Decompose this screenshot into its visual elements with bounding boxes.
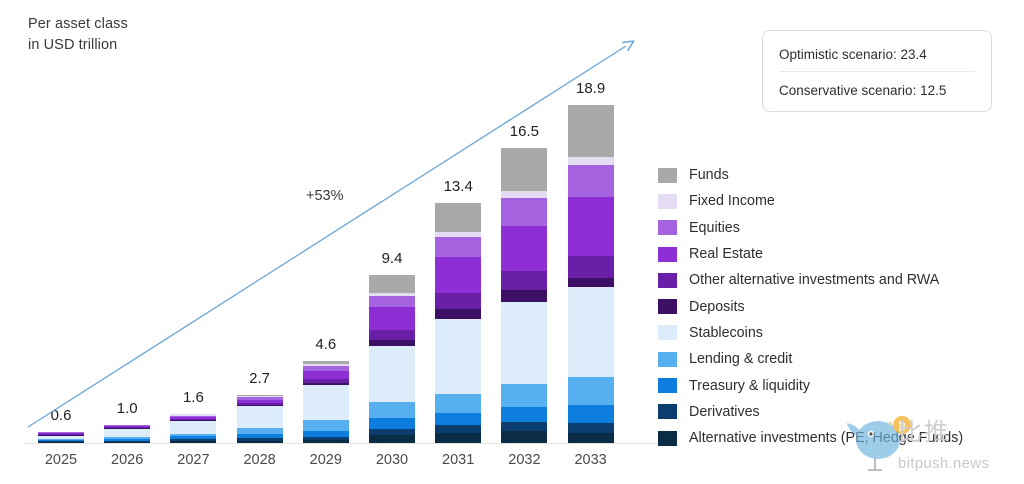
legend-swatch-icon [658, 247, 677, 262]
legend-label: Stablecoins [689, 325, 763, 341]
bar-segment-stablecoins[interactable] [237, 406, 283, 428]
bar-2028[interactable] [237, 395, 283, 443]
legend-label: Funds [689, 167, 729, 183]
legend-label: Deposits [689, 299, 745, 315]
bar-segment-stablecoins[interactable] [104, 429, 150, 437]
bar-segment-derivatives[interactable] [435, 425, 481, 433]
bar-segment-deposits[interactable] [568, 278, 614, 288]
bar-segment-treasury_liquidity[interactable] [435, 413, 481, 426]
bar-segment-treasury_liquidity[interactable] [369, 418, 415, 429]
bar-total-label-2025: 0.6 [51, 407, 72, 424]
bar-segment-lending_credit[interactable] [435, 394, 481, 413]
bar-segment-deposits[interactable] [435, 309, 481, 319]
legend-label: Derivatives [689, 404, 760, 420]
bar-total-label-2026: 1.0 [117, 400, 138, 417]
bar-segment-equities[interactable] [369, 296, 415, 307]
bar-total-label-2028: 2.7 [249, 370, 270, 387]
bar-segment-stablecoins[interactable] [501, 302, 547, 384]
growth-percentage-label: +53% [306, 188, 344, 204]
bar-segment-alternative_investments[interactable] [104, 442, 150, 443]
optimistic-scenario-row: Optimistic scenario: 23.4 [779, 43, 975, 71]
legend-item-5[interactable]: Deposits [658, 293, 1018, 319]
bar-segment-equities[interactable] [568, 165, 614, 197]
bar-segment-alternative_investments[interactable] [170, 441, 216, 443]
legend-swatch-icon [658, 273, 677, 288]
legend-label: Equities [689, 220, 740, 236]
scenario-callout-box: Optimistic scenario: 23.4 Conservative s… [762, 30, 992, 112]
bar-segment-lending_credit[interactable] [369, 402, 415, 418]
bar-total-label-2029: 4.6 [315, 336, 336, 353]
bar-segment-equities[interactable] [435, 237, 481, 257]
legend-swatch-icon [658, 168, 677, 183]
legend-item-9[interactable]: Derivatives [658, 399, 1018, 425]
bar-segment-fixed_income[interactable] [568, 157, 614, 165]
chart-legend: FundsFixed IncomeEquitiesReal EstateOthe… [658, 162, 1018, 451]
legend-item-1[interactable]: Fixed Income [658, 188, 1018, 214]
bar-segment-other_alt_rwa[interactable] [568, 256, 614, 277]
legend-label: Fixed Income [689, 193, 775, 209]
bar-segment-alternative_investments[interactable] [369, 435, 415, 443]
bar-segment-lending_credit[interactable] [303, 420, 349, 431]
bar-segment-deposits[interactable] [501, 290, 547, 302]
legend-item-2[interactable]: Equities [658, 215, 1018, 241]
bar-total-label-2027: 1.6 [183, 389, 204, 406]
bar-segment-fixed_income[interactable] [501, 191, 547, 198]
legend-item-3[interactable]: Real Estate [658, 241, 1018, 267]
bar-segment-derivatives[interactable] [568, 423, 614, 433]
legend-item-4[interactable]: Other alternative investments and RWA [658, 267, 1018, 293]
bar-2033[interactable] [568, 105, 614, 443]
watermark-cjk-text: 比推 [898, 412, 950, 447]
bar-segment-treasury_liquidity[interactable] [501, 407, 547, 423]
legend-label: Real Estate [689, 246, 763, 262]
bar-segment-real_estate[interactable] [435, 257, 481, 293]
legend-label: Lending & credit [689, 351, 792, 367]
bar-segment-real_estate[interactable] [568, 197, 614, 256]
bar-segment-funds[interactable] [568, 105, 614, 157]
bar-segment-funds[interactable] [369, 275, 415, 293]
bar-segment-stablecoins[interactable] [568, 287, 614, 376]
bar-segment-treasury_liquidity[interactable] [568, 405, 614, 423]
bar-segment-other_alt_rwa[interactable] [501, 271, 547, 290]
legend-item-6[interactable]: Stablecoins [658, 320, 1018, 346]
bar-segment-equities[interactable] [501, 198, 547, 226]
legend-swatch-icon [658, 378, 677, 393]
legend-swatch-icon [658, 194, 677, 209]
bar-2030[interactable] [369, 275, 415, 443]
legend-swatch-icon [658, 220, 677, 235]
bar-segment-alternative_investments[interactable] [501, 431, 547, 443]
x-axis-line [24, 443, 658, 444]
bar-segment-derivatives[interactable] [501, 422, 547, 431]
bar-segment-stablecoins[interactable] [435, 319, 481, 394]
bar-segment-lending_credit[interactable] [568, 377, 614, 406]
bar-segment-alternative_investments[interactable] [38, 442, 84, 443]
legend-swatch-icon [658, 431, 677, 446]
legend-swatch-icon [658, 404, 677, 419]
conservative-scenario-row: Conservative scenario: 12.5 [779, 71, 975, 101]
legend-label: Treasury & liquidity [689, 378, 810, 394]
bar-2032[interactable] [501, 148, 547, 443]
chart-page: Per asset class in USD trillion Optimist… [0, 0, 1024, 484]
bar-segment-other_alt_rwa[interactable] [435, 293, 481, 309]
bar-total-label-2033: 18.9 [576, 80, 605, 97]
legend-item-0[interactable]: Funds [658, 162, 1018, 188]
bar-total-label-2032: 16.5 [510, 123, 539, 140]
bar-2026[interactable] [104, 425, 150, 443]
bar-total-label-2031: 13.4 [444, 178, 473, 195]
bar-2027[interactable] [170, 414, 216, 443]
bar-2029[interactable] [303, 361, 349, 443]
x-axis-tick-2033: 2033 [551, 452, 631, 468]
bar-segment-alternative_investments[interactable] [568, 433, 614, 443]
bar-total-label-2030: 9.4 [382, 250, 403, 267]
bar-segment-real_estate[interactable] [369, 307, 415, 330]
bar-segment-real_estate[interactable] [501, 226, 547, 271]
bar-segment-alternative_investments[interactable] [237, 441, 283, 443]
bar-segment-alternative_investments[interactable] [435, 433, 481, 443]
watermark-site-text: bitpush.news [898, 455, 989, 472]
bar-segment-alternative_investments[interactable] [303, 440, 349, 443]
legend-item-8[interactable]: Treasury & liquidity [658, 372, 1018, 398]
legend-item-7[interactable]: Lending & credit [658, 346, 1018, 372]
bar-segment-funds[interactable] [435, 203, 481, 232]
stacked-bar-plot: 0.61.01.62.74.69.413.416.518.9 202520262… [0, 0, 660, 484]
legend-swatch-icon [658, 299, 677, 314]
bar-segment-funds[interactable] [501, 148, 547, 191]
bar-2031[interactable] [435, 203, 481, 443]
bar-segment-lending_credit[interactable] [501, 384, 547, 407]
bar-segment-real_estate[interactable] [303, 371, 349, 379]
legend-label: Other alternative investments and RWA [689, 272, 939, 288]
bar-segment-other_alt_rwa[interactable] [369, 330, 415, 340]
bar-2025[interactable] [38, 432, 84, 443]
bar-segment-stablecoins[interactable] [170, 421, 216, 434]
legend-swatch-icon [658, 325, 677, 340]
bar-segment-stablecoins[interactable] [303, 385, 349, 420]
legend-swatch-icon [658, 352, 677, 367]
legend-item-10[interactable]: Alternative investments (PE, Hedge Funds… [658, 425, 1018, 451]
bar-segment-stablecoins[interactable] [369, 346, 415, 401]
